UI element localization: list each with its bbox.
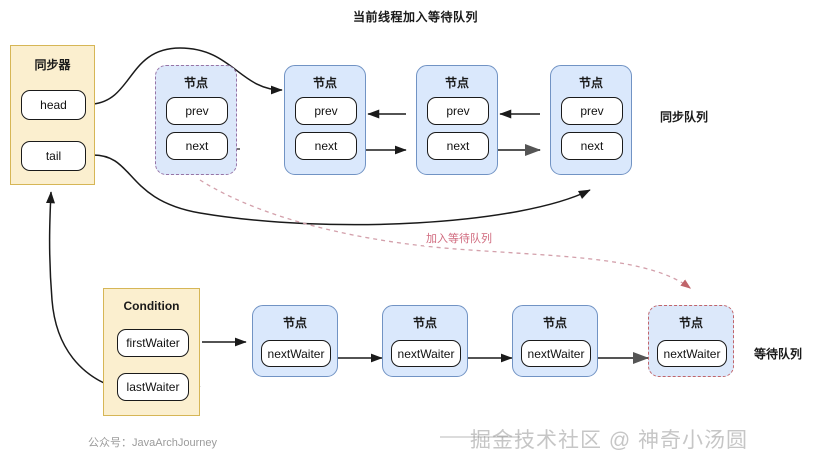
condition-field-lastwaiter[interactable]: lastWaiter <box>117 373 189 401</box>
sync-node-4-prev-label: prev <box>580 104 603 118</box>
wait-node-4[interactable]: 节点 nextWaiter <box>648 305 734 377</box>
sync-queue-label: 同步队列 <box>660 108 708 125</box>
sync-node-1[interactable]: 节点 prev next <box>155 65 237 175</box>
sync-node-1-title: 节点 <box>156 74 236 91</box>
wait-node-3[interactable]: 节点 nextWaiter <box>512 305 598 377</box>
wait-node-4-nextwaiter-label: nextWaiter <box>664 347 721 361</box>
wait-node-2-nextwaiter-label: nextWaiter <box>398 347 455 361</box>
synchronizer-box: 同步器 head tail <box>10 45 95 185</box>
wait-node-3-field-nextwaiter[interactable]: nextWaiter <box>521 340 591 367</box>
wait-node-3-nextwaiter-label: nextWaiter <box>528 347 585 361</box>
wait-node-2-title: 节点 <box>383 314 467 331</box>
sync-node-3-title: 节点 <box>417 74 497 91</box>
sync-node-1-prev-label: prev <box>185 104 208 118</box>
condition-field-firstwaiter[interactable]: firstWaiter <box>117 329 189 357</box>
sync-node-4-field-prev[interactable]: prev <box>561 97 623 125</box>
condition-title: Condition <box>104 299 199 313</box>
sync-node-2-field-next[interactable]: next <box>295 132 357 160</box>
synchronizer-title: 同步器 <box>11 56 94 73</box>
condition-firstwaiter-label: firstWaiter <box>126 336 180 350</box>
sync-node-2[interactable]: 节点 prev next <box>284 65 366 175</box>
wait-node-3-title: 节点 <box>513 314 597 331</box>
diagram-title: 当前线程加入等待队列 <box>0 8 831 25</box>
sync-node-3-prev-label: prev <box>446 104 469 118</box>
sync-node-4-title: 节点 <box>551 74 631 91</box>
sync-field-tail[interactable]: tail <box>21 141 86 171</box>
wait-node-1[interactable]: 节点 nextWaiter <box>252 305 338 377</box>
wait-node-1-field-nextwaiter[interactable]: nextWaiter <box>261 340 331 367</box>
wait-node-1-title: 节点 <box>253 314 337 331</box>
diagram-canvas: 当前线程加入等待队列 <box>0 0 831 460</box>
sync-node-3-field-next[interactable]: next <box>427 132 489 160</box>
sync-field-head[interactable]: head <box>21 90 86 120</box>
wait-node-2-field-nextwaiter[interactable]: nextWaiter <box>391 340 461 367</box>
sync-node-4-next-label: next <box>581 139 604 153</box>
sync-node-2-field-prev[interactable]: prev <box>295 97 357 125</box>
wait-node-4-title: 节点 <box>649 314 733 331</box>
join-wait-queue-label: 加入等待队列 <box>424 230 494 246</box>
sync-field-tail-label: tail <box>46 149 61 163</box>
sync-node-4-field-next[interactable]: next <box>561 132 623 160</box>
wait-queue-label: 等待队列 <box>754 345 802 362</box>
sync-node-1-next-label: next <box>186 139 209 153</box>
account-note: 公众号：JavaArchJourney <box>88 434 217 450</box>
sync-node-2-next-label: next <box>315 139 338 153</box>
sync-node-1-field-next[interactable]: next <box>166 132 228 160</box>
wait-node-1-nextwaiter-label: nextWaiter <box>268 347 325 361</box>
sync-field-head-label: head <box>40 98 67 112</box>
sync-node-3[interactable]: 节点 prev next <box>416 65 498 175</box>
sync-node-2-prev-label: prev <box>314 104 337 118</box>
sync-node-4[interactable]: 节点 prev next <box>550 65 632 175</box>
condition-lastwaiter-label: lastWaiter <box>127 380 180 394</box>
watermark: 掘金技术社区 @ 神奇小汤圆 <box>470 424 748 454</box>
wait-node-4-field-nextwaiter[interactable]: nextWaiter <box>657 340 727 367</box>
condition-box: Condition firstWaiter lastWaiter <box>103 288 200 416</box>
sync-node-3-field-prev[interactable]: prev <box>427 97 489 125</box>
sync-node-3-next-label: next <box>447 139 470 153</box>
sync-node-1-field-prev[interactable]: prev <box>166 97 228 125</box>
wait-node-2[interactable]: 节点 nextWaiter <box>382 305 468 377</box>
sync-node-2-title: 节点 <box>285 74 365 91</box>
